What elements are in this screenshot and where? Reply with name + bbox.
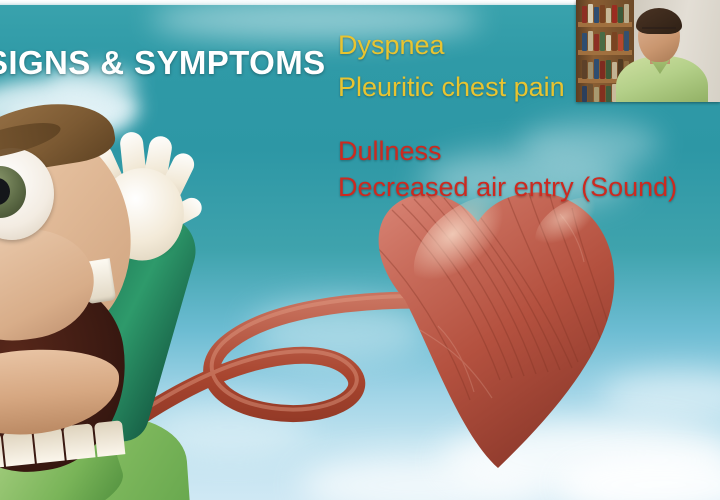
book [618,34,623,51]
presenter-webcam-overlay[interactable] [576,0,720,102]
book [624,4,629,23]
book [600,61,605,79]
book [594,34,599,51]
book [618,7,623,23]
book [588,4,593,23]
bullet-decreased-air-entry: Decreased air entry (Sound) [338,172,677,203]
book [600,5,605,23]
book [606,35,611,51]
slide-title: SIGNS & SYMPTOMS [0,44,326,82]
book [594,7,599,23]
video-frame: SIGNS & SYMPTOMS Dyspnea Pleuritic chest… [0,0,720,500]
book [606,8,611,23]
book [588,84,593,102]
bullet-pleuritic-chest-pain: Pleuritic chest pain [338,72,565,103]
book [582,60,587,79]
book [588,62,593,79]
glasses-icon [642,27,676,37]
book [606,60,611,79]
book [594,59,599,79]
cartoon-character [0,100,260,500]
bullet-dyspnea: Dyspnea [338,30,445,61]
book [606,86,611,102]
book [582,86,587,102]
book [582,33,587,51]
bullet-dullness: Dullness [338,136,442,167]
book [588,31,593,51]
book [594,87,599,102]
book [612,32,617,51]
book [624,31,629,51]
book [612,62,617,79]
book [612,5,617,23]
heart-shape [366,175,619,468]
book [582,6,587,23]
book [600,32,605,51]
book [600,85,605,102]
